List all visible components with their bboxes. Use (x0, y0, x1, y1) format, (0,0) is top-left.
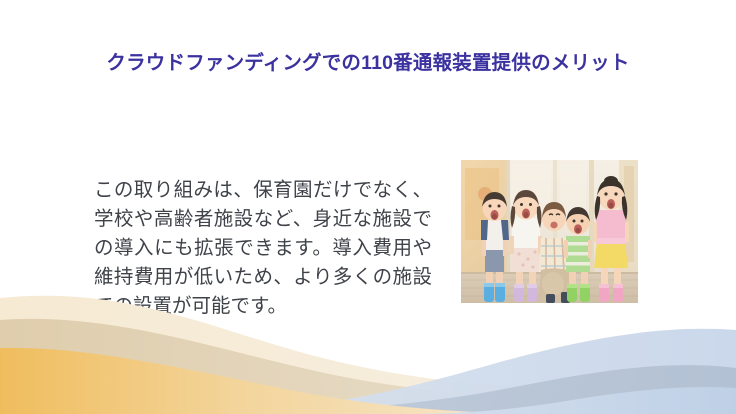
body-paragraph: この取り組みは、保育園だけでなく、学校や高齢者施設など、身近な施設での導入にも拡… (94, 176, 432, 321)
photo-children-at-nursery (461, 160, 638, 303)
wave-sand-mid (0, 319, 736, 414)
slide-title: クラウドファンディングでの110番通報装置提供のメリット (0, 46, 736, 75)
wave-slate-mid (0, 365, 736, 414)
wave-amber-lower (0, 348, 540, 414)
wave-blue-upper (0, 329, 736, 414)
slide-canvas: クラウドファンディングでの110番通報装置提供のメリット この取り組みは、保育園… (0, 0, 736, 414)
photo-artwork (461, 160, 638, 303)
wave-blue-lower (410, 387, 736, 414)
